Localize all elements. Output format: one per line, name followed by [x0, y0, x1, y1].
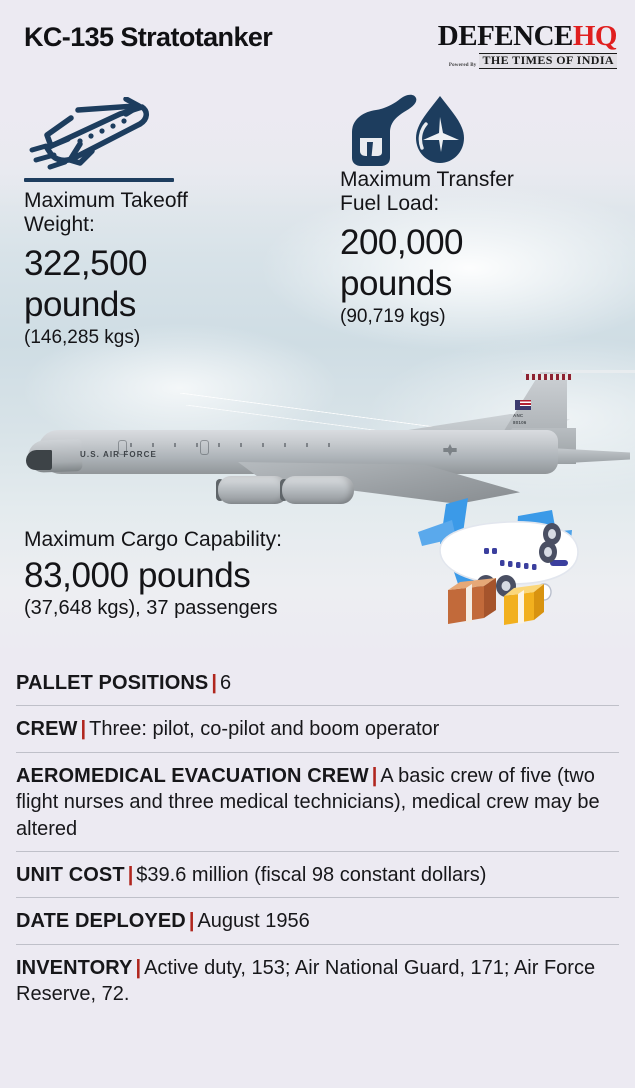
usaf-roundel-icon — [442, 442, 458, 458]
table-row: DATE DEPLOYED|August 1956 — [16, 898, 619, 944]
spec-separator: | — [125, 864, 137, 886]
spec-key: UNIT COST — [16, 864, 125, 886]
spec-key: DATE DEPLOYED — [16, 910, 186, 932]
cargo-value: 83,000 pounds — [24, 556, 424, 596]
stat-maximum-takeoff-weight: Maximum Takeoff Weight: 322,500 pounds (… — [24, 96, 324, 349]
stat-value-line1: 322,500 — [24, 244, 324, 285]
stat-label-line1: Maximum Takeoff — [24, 189, 324, 213]
logo-subline: Powered By THE TIMES OF INDIA — [438, 53, 617, 69]
airplane-takeoff-icon — [24, 97, 164, 171]
stat-value-line2: pounds — [340, 264, 635, 305]
cargo-box-brown — [448, 578, 496, 624]
spec-key: PALLET POSITIONS — [16, 672, 208, 694]
table-row: CREW|Three: pilot, co-pilot and boom ope… — [16, 706, 619, 752]
horizontal-stabilizer — [550, 448, 630, 464]
stat-subvalue: (146,285 kgs) — [24, 327, 324, 350]
stat-maximum-transfer-fuel-load: Maximum Transfer Fuel Load: 200,000 poun… — [340, 92, 635, 328]
stat-value-line2: pounds — [24, 285, 324, 326]
table-row: AEROMEDICAL EVACUATION CREW|A basic crew… — [16, 753, 619, 852]
stat-label-line2: Weight: — [24, 213, 324, 237]
tail-code: ANC 80106 — [513, 413, 553, 427]
spec-separator: | — [208, 672, 220, 694]
stat-icon-wrapper — [24, 96, 324, 172]
spec-separator: | — [132, 957, 144, 979]
cartoon-cargo-plane-illustration — [400, 486, 622, 636]
defence-hq-logo: DEFENCEHQ Powered By THE TIMES OF INDIA — [438, 22, 617, 69]
tail-code-line2: 80106 — [513, 420, 553, 427]
cargo-plane-icon — [400, 486, 622, 636]
tail-stripe — [526, 374, 572, 380]
header: KC-135 Stratotanker DEFENCEHQ Powered By… — [0, 0, 635, 88]
engine-nacelle-1 — [218, 476, 288, 504]
spec-separator: | — [369, 765, 381, 787]
stat-label-line1: Maximum Transfer — [340, 168, 635, 192]
tail-cap — [522, 370, 635, 373]
infographic-page: KC-135 Stratotanker DEFENCEHQ Powered By… — [0, 0, 635, 1088]
logo-wordmark: DEFENCEHQ — [438, 22, 617, 51]
radome — [26, 450, 52, 470]
spec-separator: | — [186, 910, 198, 932]
table-row: INVENTORY|Active duty, 153; Air National… — [16, 945, 619, 1017]
logo-publisher-text: THE TIMES OF INDIA — [479, 53, 617, 69]
stat-label: Maximum Takeoff Weight: — [24, 189, 324, 238]
stat-value-line1: 200,000 — [340, 223, 635, 264]
spec-value: Three: pilot, co-pilot and boom operator — [89, 718, 439, 740]
cargo-label: Maximum Cargo Capability: — [24, 528, 424, 552]
spec-key: CREW — [16, 718, 78, 740]
aft-door — [200, 440, 209, 455]
stat-value: 200,000 pounds — [340, 223, 635, 305]
stat-subvalue: (90,719 kgs) — [340, 306, 635, 329]
spec-value: August 1956 — [197, 910, 309, 932]
logo-hq-text: HQ — [573, 20, 617, 52]
logo-defence-text: DEFENCE — [438, 20, 573, 52]
stat-rule — [24, 178, 174, 182]
stat-value: 322,500 pounds — [24, 244, 324, 326]
spec-separator: | — [78, 718, 90, 740]
table-row: PALLET POSITIONS|6 — [16, 660, 619, 706]
stat-icon-wrapper — [340, 92, 635, 168]
cargo-subvalue: (37,648 kgs), 37 passengers — [24, 597, 424, 620]
tail-code-line1: ANC — [513, 413, 553, 420]
stat-maximum-cargo-capability: Maximum Cargo Capability: 83,000 pounds … — [24, 528, 424, 620]
engine-nacelle-2 — [282, 476, 354, 504]
page-title: KC-135 Stratotanker — [24, 22, 272, 53]
stat-label: Maximum Transfer Fuel Load: — [340, 168, 635, 217]
stat-label-line2: Fuel Load: — [340, 192, 635, 216]
spec-key: AEROMEDICAL EVACUATION CREW — [16, 765, 369, 787]
cabin-windows — [130, 443, 330, 447]
table-row: UNIT COST|$39.6 million (fiscal 98 const… — [16, 852, 619, 898]
specifications-list: PALLET POSITIONS|6 CREW|Three: pilot, co… — [0, 660, 635, 1017]
spec-value: 6 — [220, 672, 231, 694]
fuel-nozzle-droplet-icon — [340, 90, 480, 170]
us-flag-icon — [515, 400, 531, 410]
spec-value: $39.6 million (fiscal 98 constant dollar… — [136, 864, 486, 886]
spec-key: INVENTORY — [16, 957, 132, 979]
logo-powered-by-text: Powered By — [449, 63, 477, 69]
usaf-marking: U.S. AIR FORCE — [80, 450, 157, 459]
